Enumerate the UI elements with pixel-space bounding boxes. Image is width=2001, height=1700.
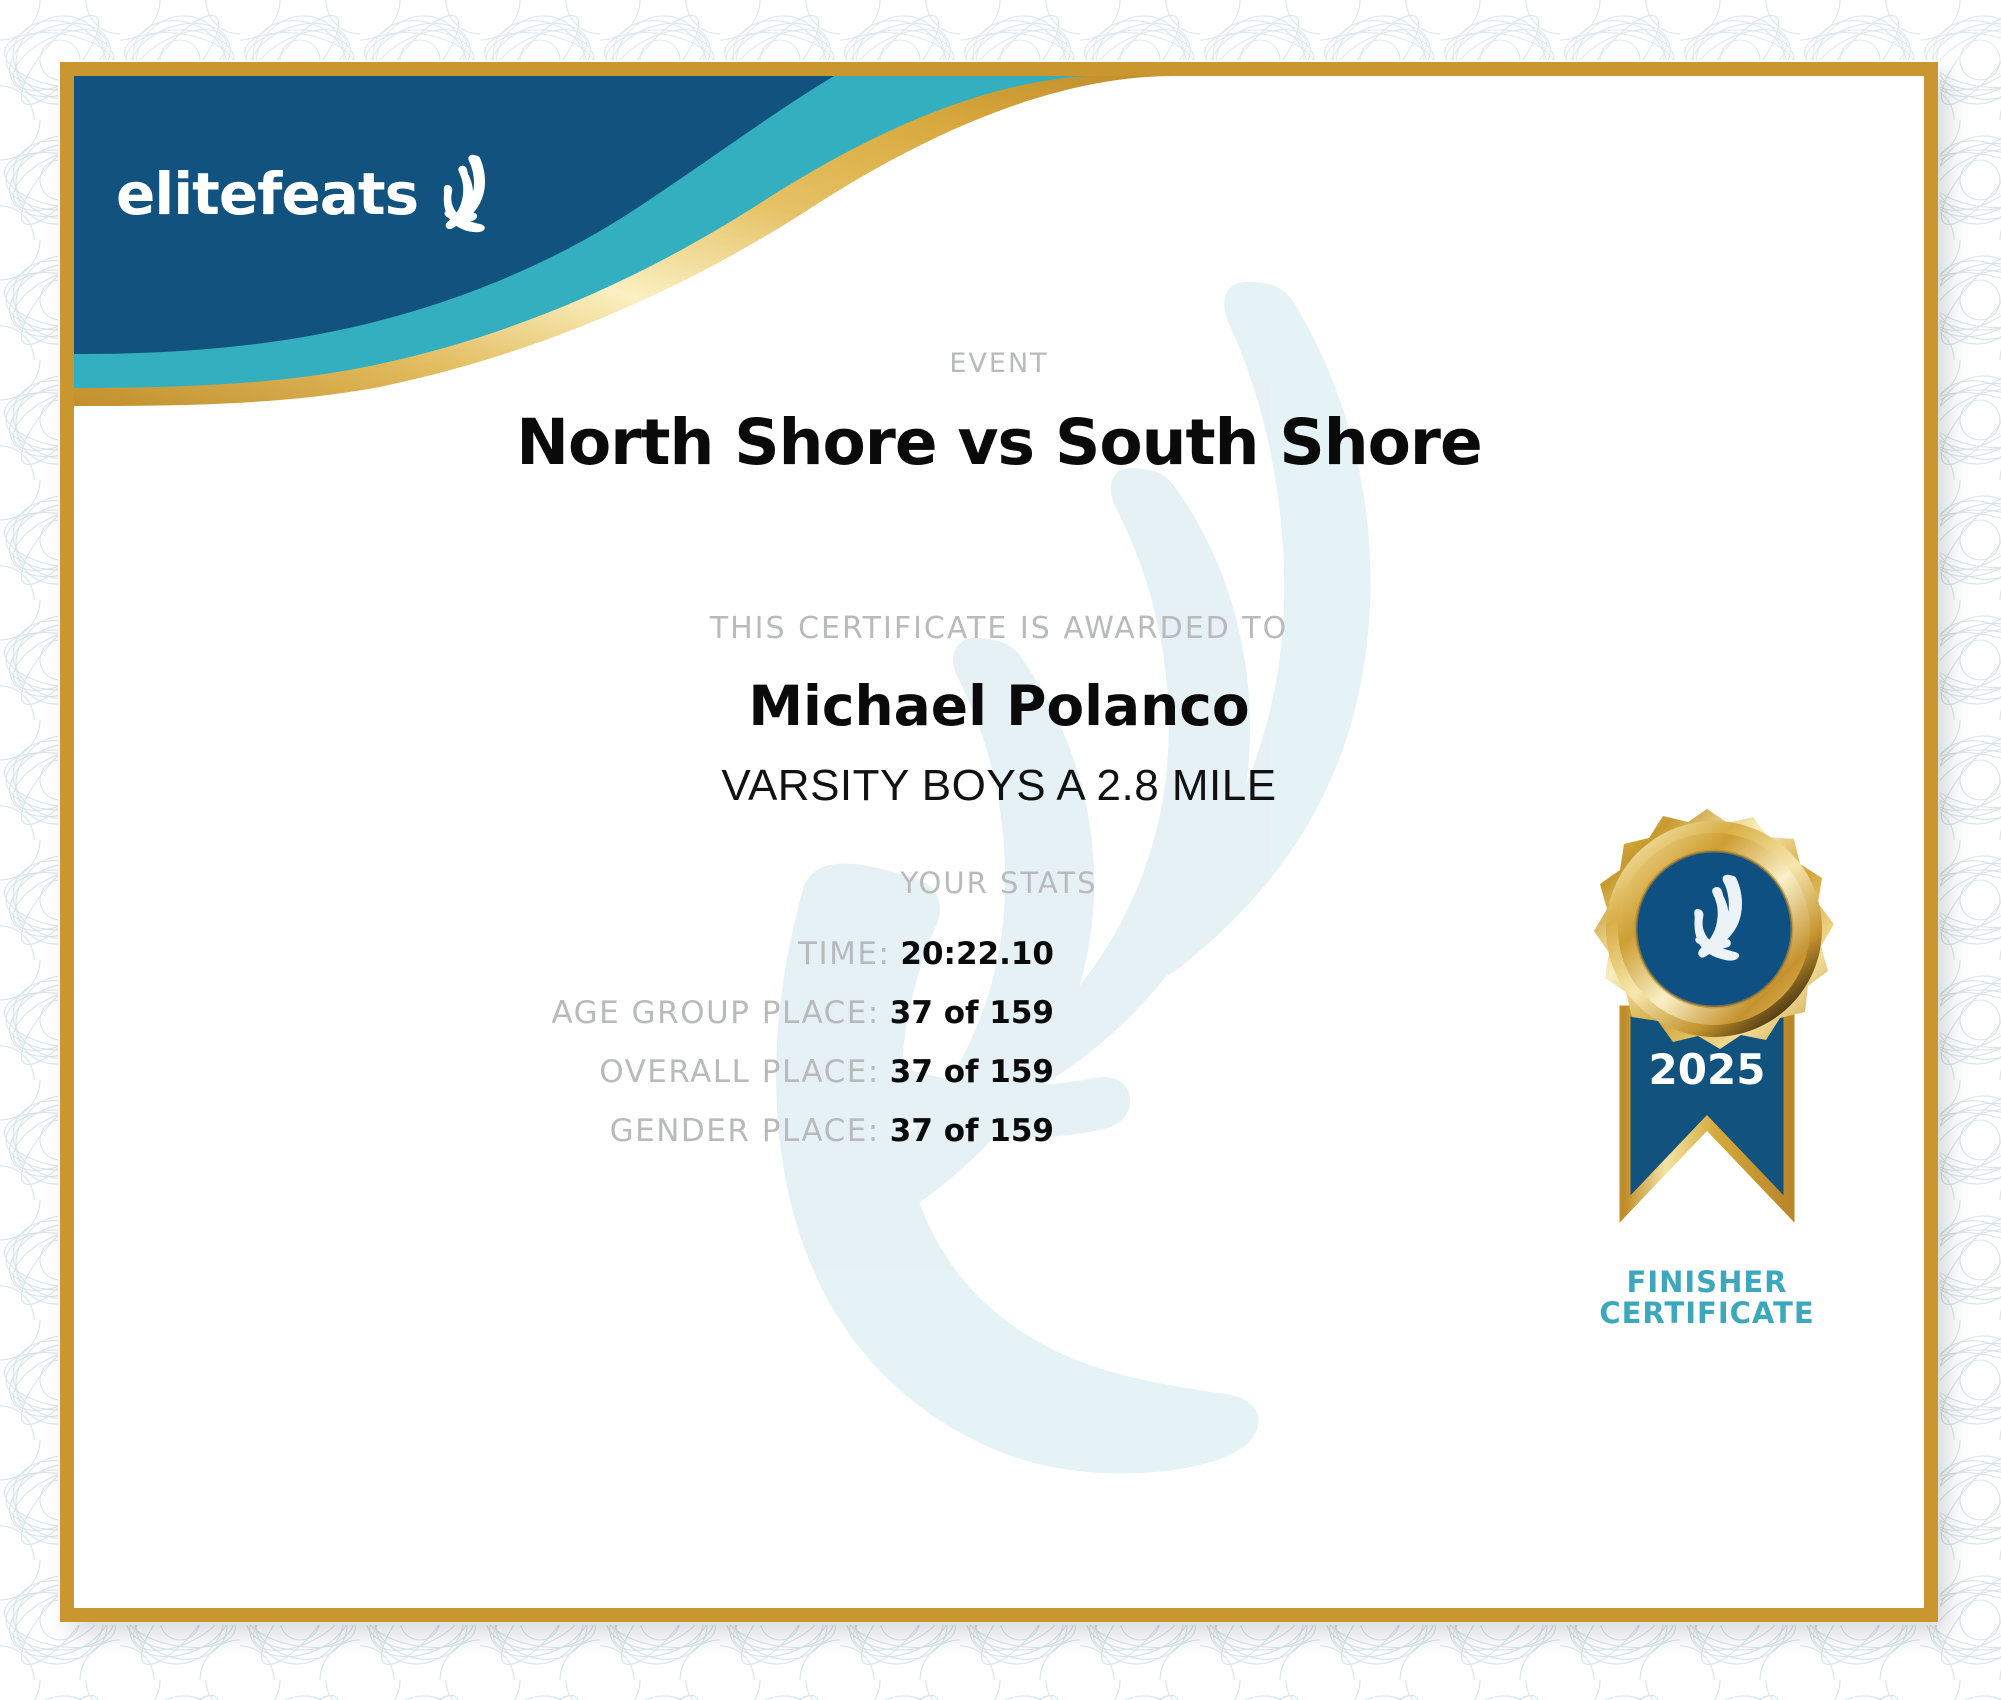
certificate-page: elitefeats EVENT North Shore vs South Sh… [0,0,2001,1700]
stat-row: GENDER PLACE: 37 of 159 [374,1113,1054,1149]
stat-row: AGE GROUP PLACE: 37 of 159 [374,995,1054,1031]
finisher-caption-line2: CERTIFICATE [1542,1298,1872,1329]
awarded-to-label: THIS CERTIFICATE IS AWARDED TO [74,611,1924,646]
stats-table: TIME: 20:22.10 AGE GROUP PLACE: 37 of 15… [374,936,1054,1172]
gold-frame: elitefeats EVENT North Shore vs South Sh… [60,62,1938,1622]
finisher-caption: FINISHER CERTIFICATE [1542,1267,1872,1330]
finisher-caption-line1: FINISHER [1542,1267,1872,1298]
stat-value-overall-place: 37 of 159 [890,1054,1054,1090]
stat-value-gender-place: 37 of 159 [890,1113,1054,1149]
recipient-name: Michael Polanco [74,674,1924,738]
medal-year: 2025 [1649,1045,1766,1094]
medal-icon: 2025 [1557,801,1857,1261]
stat-key-gender-place: GENDER PLACE: [610,1113,880,1149]
stat-key-age-group-place: AGE GROUP PLACE: [551,995,879,1031]
stat-key-time: TIME: [798,936,890,972]
stat-value-time: 20:22.10 [900,936,1054,972]
stat-key-overall-place: OVERALL PLACE: [599,1054,880,1090]
stat-value-age-group-place: 37 of 159 [890,995,1054,1031]
stat-row: OVERALL PLACE: 37 of 159 [374,1054,1054,1090]
certificate-canvas: elitefeats EVENT North Shore vs South Sh… [74,76,1924,1608]
stat-row: TIME: 20:22.10 [374,936,1054,972]
event-title: North Shore vs South Shore [74,406,1924,479]
finisher-medal-badge: 2025 FINISHER CERTIFICATE [1542,801,1872,1330]
event-label: EVENT [74,348,1924,379]
